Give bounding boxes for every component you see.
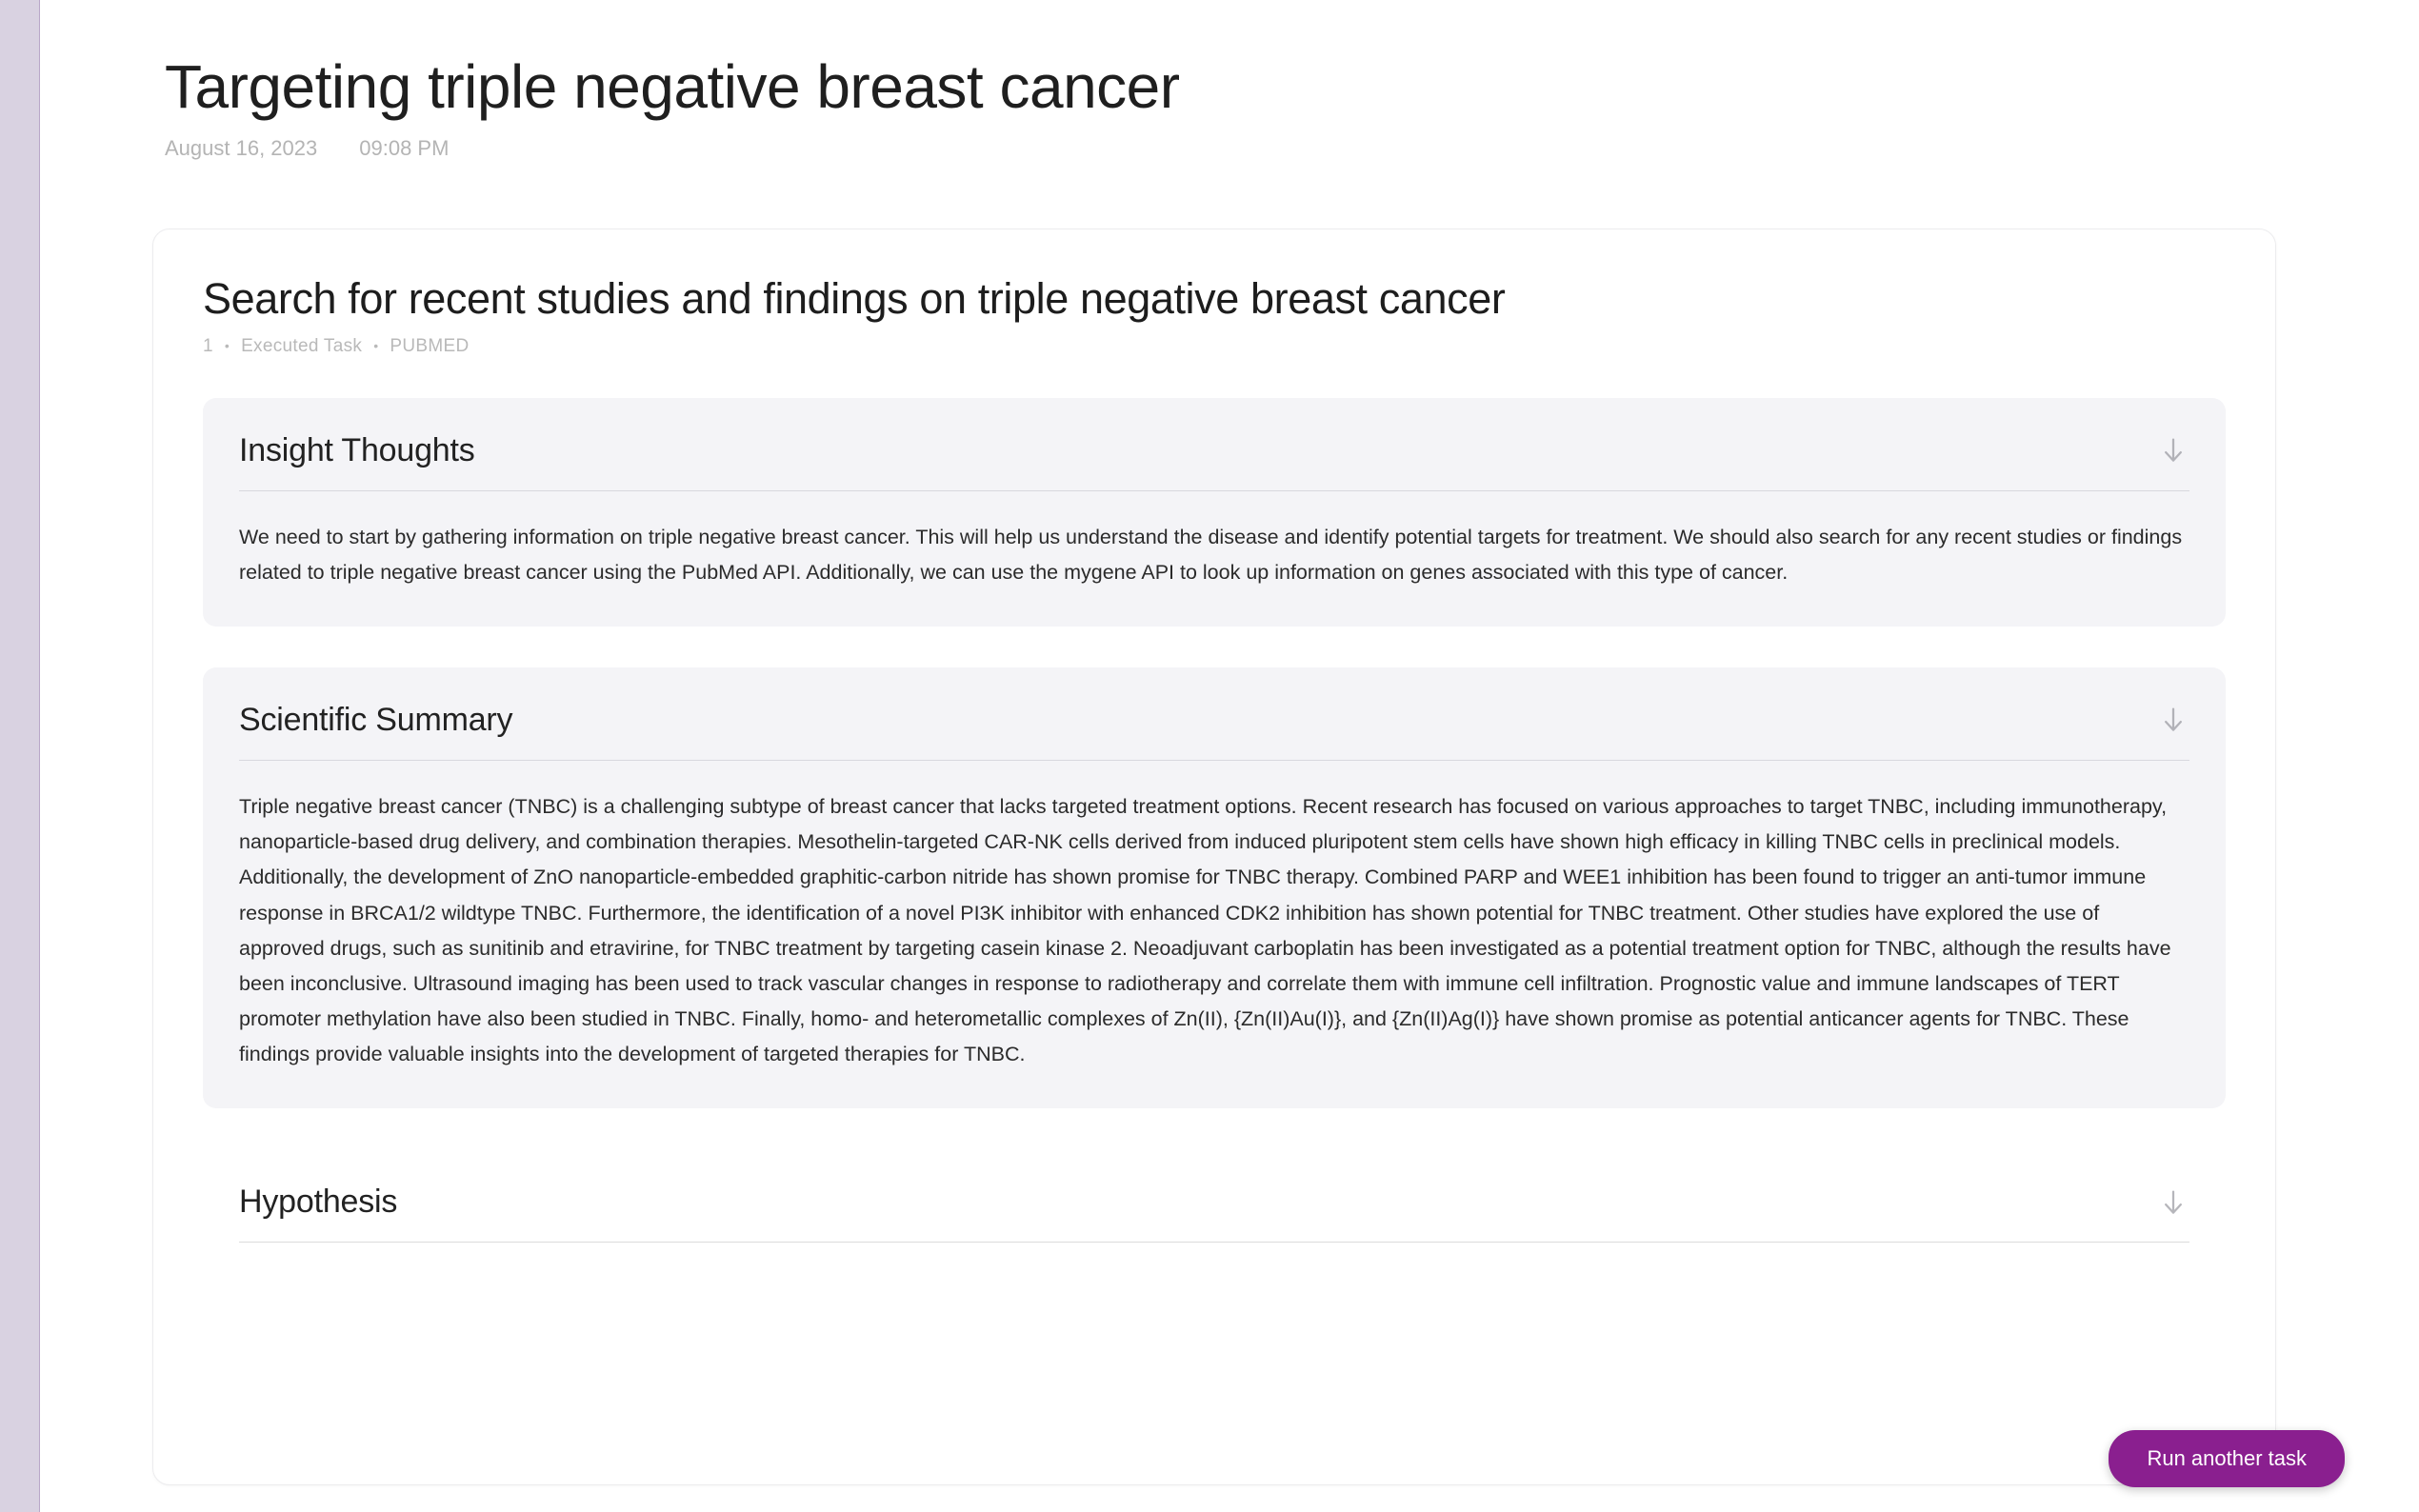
arrow-down-icon[interactable] (2157, 1186, 2189, 1219)
section-body: Triple negative breast cancer (TNBC) is … (239, 761, 2189, 1073)
arrow-down-icon[interactable] (2157, 704, 2189, 736)
section-body: We need to start by gathering informatio… (239, 491, 2189, 590)
section-scientific-summary: Scientific Summary Triple negative breas… (203, 667, 2226, 1109)
section-insight-thoughts: Insight Thoughts We need to start by gat… (203, 398, 2226, 627)
breadcrumb-separator-icon: • (225, 339, 230, 352)
section-body (239, 1243, 2189, 1309)
left-sidebar-rail[interactable] (0, 0, 40, 1512)
section-header-scientific-summary[interactable]: Scientific Summary (239, 667, 2189, 761)
page-header: Targeting triple negative breast cancer … (41, 0, 2419, 161)
page-scroll-area[interactable]: Targeting triple negative breast cancer … (41, 0, 2419, 1512)
breadcrumb-source: PUBMED (390, 336, 469, 357)
section-title: Hypothesis (239, 1184, 397, 1221)
breadcrumb-index: 1 (203, 336, 213, 357)
breadcrumb: 1 • Executed Task • PUBMED (203, 336, 2226, 357)
section-header-hypothesis[interactable]: Hypothesis (239, 1149, 2189, 1243)
arrow-down-icon[interactable] (2157, 434, 2189, 467)
page-title: Targeting triple negative breast cancer (165, 52, 2419, 123)
page-timestamp: August 16, 2023 09:08 PM (165, 136, 2419, 161)
run-another-task-button[interactable]: Run another task (2109, 1430, 2345, 1487)
page-time: 09:08 PM (359, 136, 449, 161)
breadcrumb-status: Executed Task (241, 336, 362, 357)
section-title: Scientific Summary (239, 702, 512, 739)
task-card: Search for recent studies and findings o… (152, 229, 2276, 1485)
section-title: Insight Thoughts (239, 432, 475, 469)
breadcrumb-separator-icon: • (373, 339, 378, 352)
section-hypothesis: Hypothesis (203, 1149, 2226, 1345)
task-heading: Search for recent studies and findings o… (203, 273, 2226, 325)
section-header-insight-thoughts[interactable]: Insight Thoughts (239, 398, 2189, 491)
page-date: August 16, 2023 (165, 136, 317, 161)
